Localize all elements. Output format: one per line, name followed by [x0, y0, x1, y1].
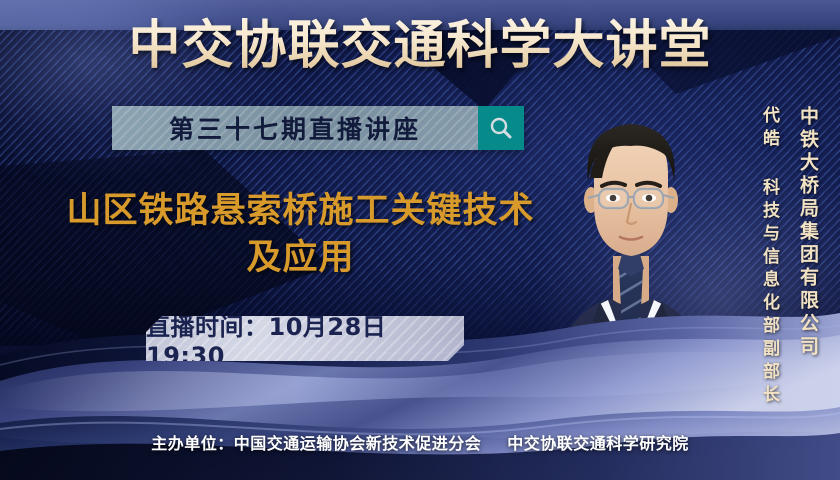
- search-icon: [488, 115, 514, 141]
- search-button[interactable]: [478, 106, 524, 150]
- footer-host-primary: 主办单位：中国交通运输协会新技术促进分会: [151, 434, 481, 453]
- speaker-name-title: 代皓 科技与信息化部副部长: [757, 106, 782, 408]
- footer-host-secondary: 中交协联交通科学研究院: [507, 434, 689, 453]
- lecture-title-line1: 山区铁路悬索桥施工关键技术: [28, 188, 573, 235]
- episode-label: 第三十七期直播讲座: [169, 110, 421, 146]
- page-title: 中交协联交通科学大讲堂: [0, 16, 840, 76]
- lecture-title: 山区铁路悬索桥施工关键技术 及应用: [28, 188, 573, 282]
- footer-hosts: 主办单位：中国交通运输协会新技术促进分会中交协联交通科学研究院: [0, 430, 840, 454]
- livestream-poster: 中交协联交通科学大讲堂 第三十七期直播讲座 山区铁路悬索桥施工关键技术 及应用 …: [0, 0, 840, 480]
- episode-banner: 第三十七期直播讲座: [112, 106, 524, 150]
- lecture-title-line2: 及应用: [28, 235, 573, 282]
- broadcast-time-banner: 直播时间：10月28日19:30: [146, 316, 464, 361]
- broadcast-time-label: 直播时间：10月28日19:30: [146, 307, 464, 370]
- episode-label-container: 第三十七期直播讲座: [112, 106, 478, 150]
- speaker-organization: 中铁大桥局集团有限公司: [795, 106, 822, 359]
